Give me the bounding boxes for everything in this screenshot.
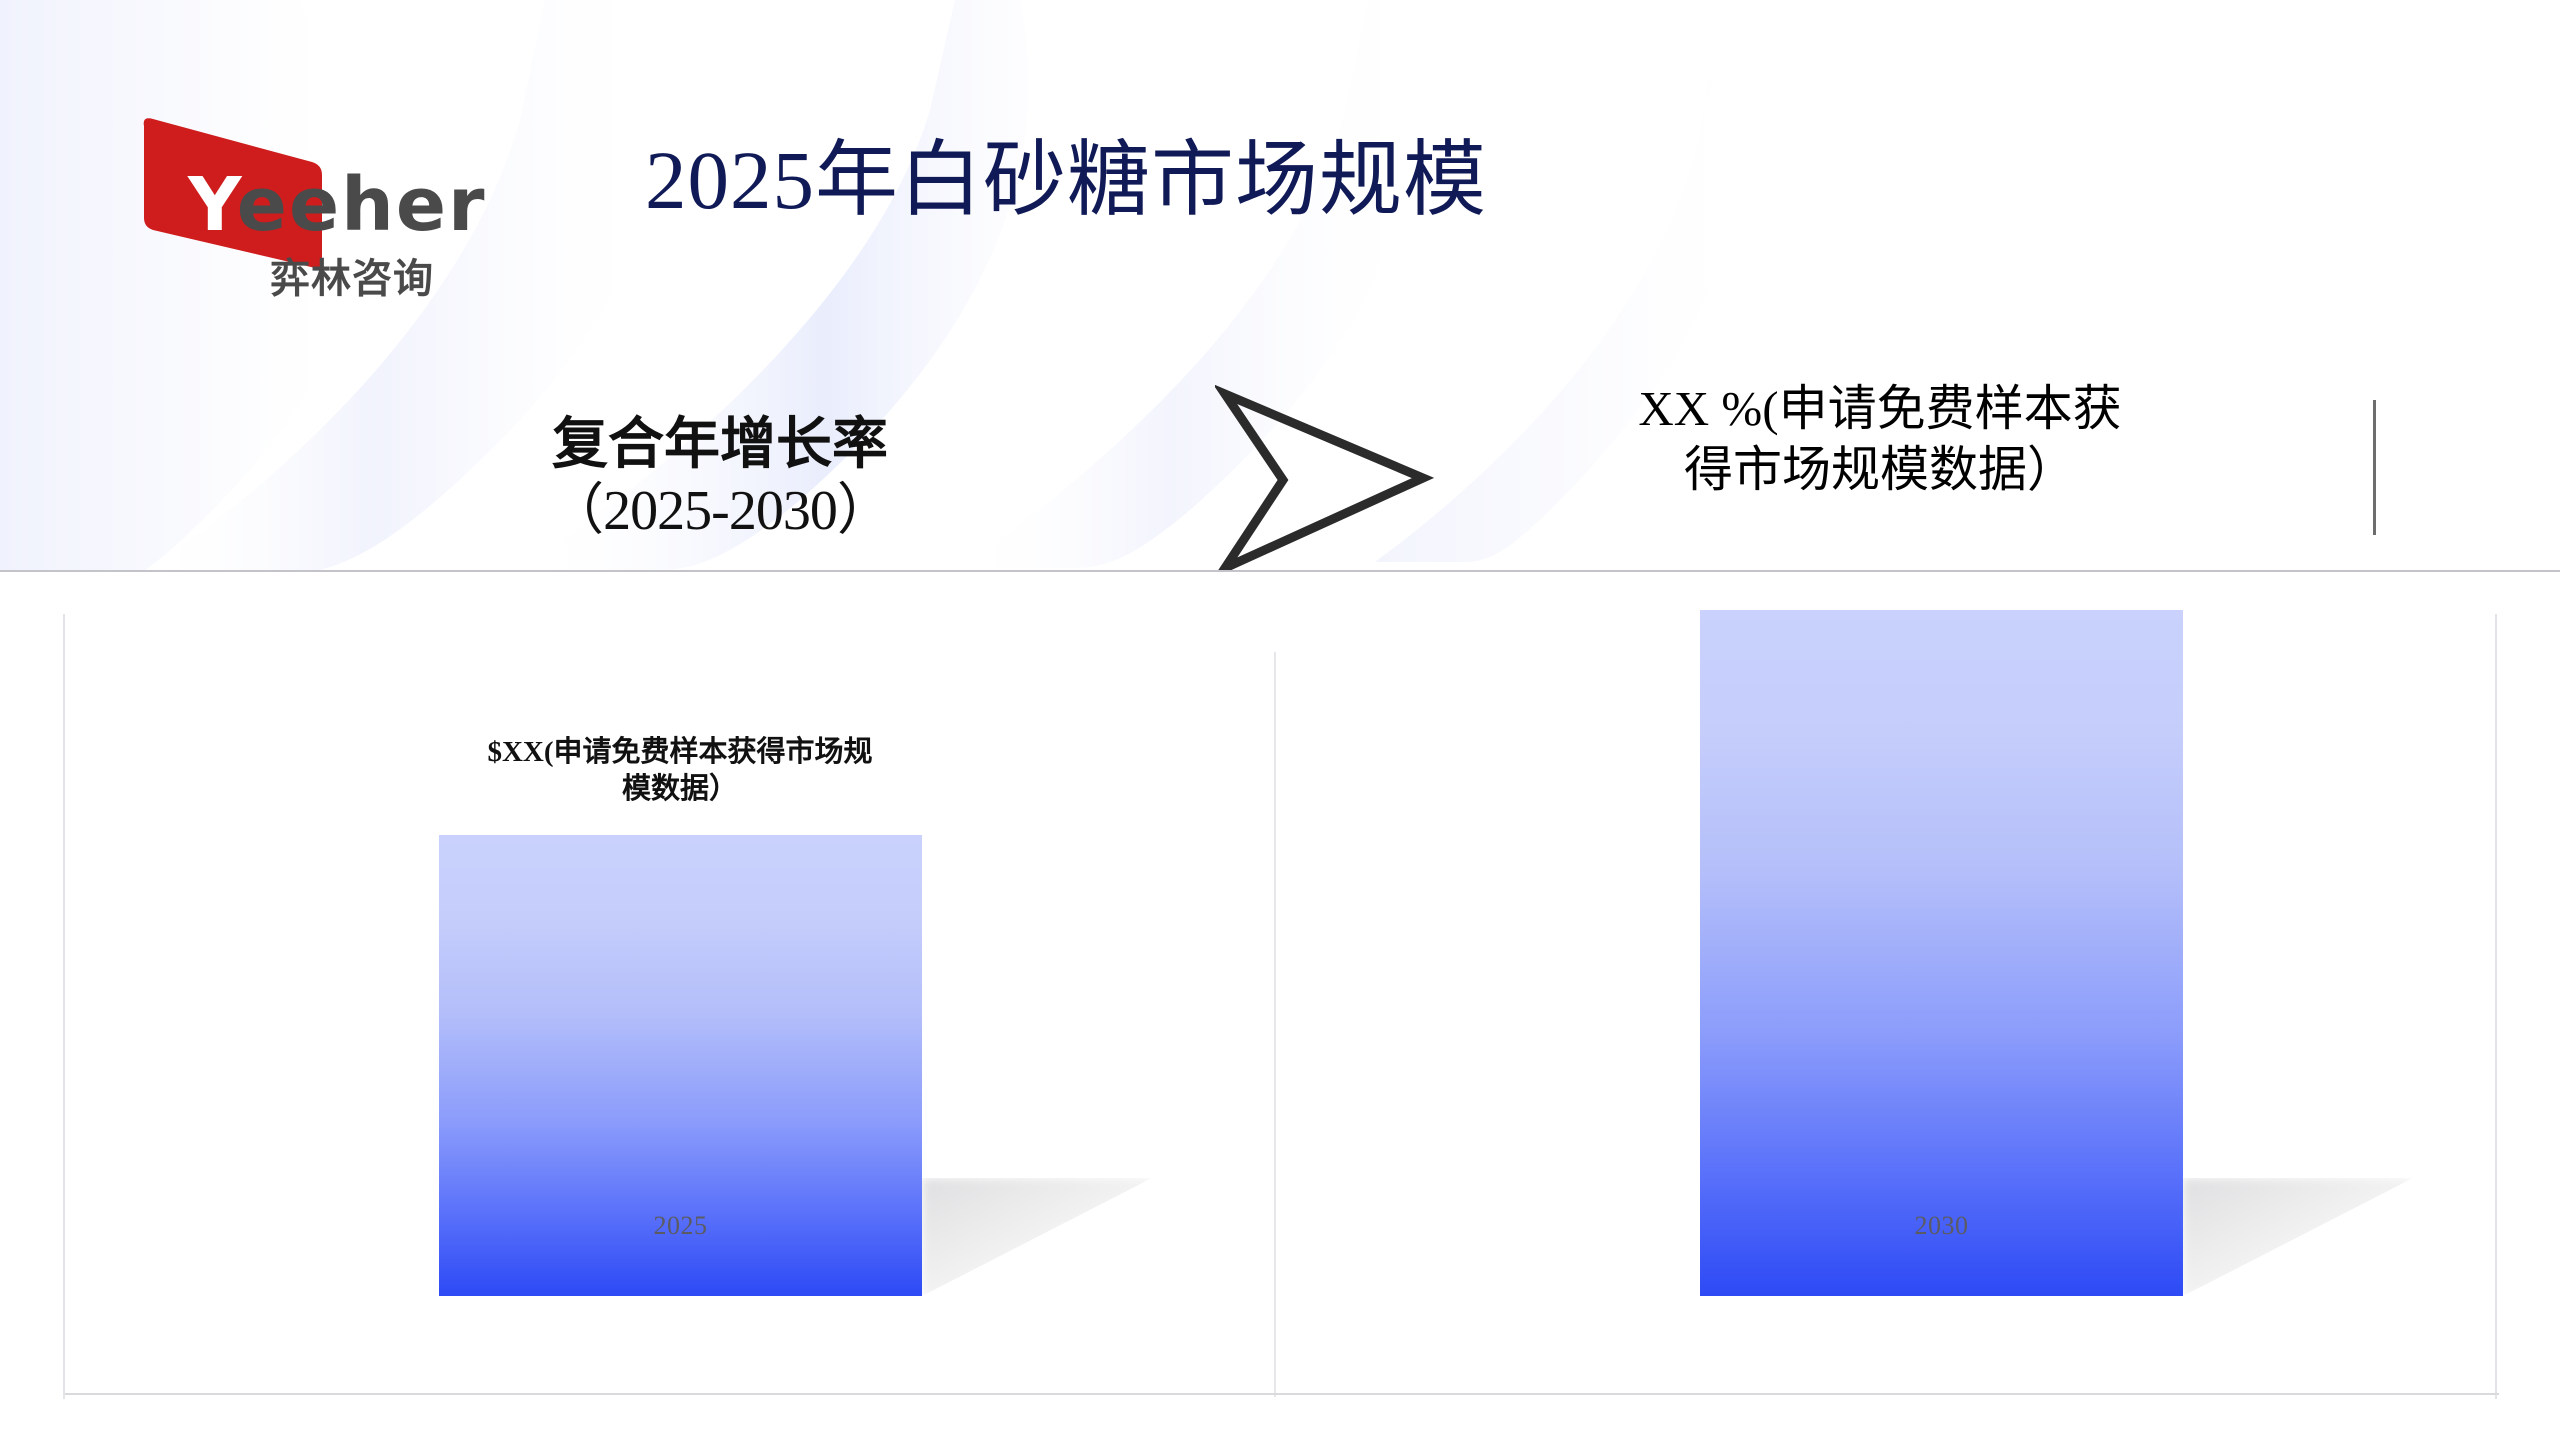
axis-tick-label-2030: 2030 bbox=[1700, 1211, 2183, 1241]
chart-axis-baseline bbox=[65, 1393, 2499, 1395]
vertical-rule bbox=[2373, 400, 2376, 535]
arrow-right-icon bbox=[1215, 380, 1435, 580]
bar-shadow bbox=[2183, 1178, 2413, 1296]
chart-panel-split bbox=[1274, 652, 1276, 1397]
logo-wordmark: Yeeher bbox=[188, 168, 487, 242]
cagr-value-callout: XX %(申请免费样本获得市场规模数据） bbox=[1620, 378, 2140, 501]
bar-value-label-2025: $XX(申请免费样本获得市场规 模数据） bbox=[390, 734, 970, 809]
logo-wordmark-rest: eeher bbox=[237, 162, 487, 248]
chart-region: $XX(申请免费样本获得市场规 模数据） 2025 2030 bbox=[0, 572, 2560, 1440]
axis-tick-label-2025: 2025 bbox=[439, 1211, 922, 1241]
bar-value-label-line2: 模数据） bbox=[390, 771, 970, 809]
cagr-label-line2: （2025-2030） bbox=[480, 478, 960, 544]
cagr-label-line1: 复合年增长率 bbox=[480, 412, 960, 478]
header-region: Yeeher 弈林咨询 2025年白砂糖市场规模 复合年增长率 （2025-20… bbox=[0, 0, 2560, 570]
brand-logo[interactable]: Yeeher 弈林咨询 bbox=[128, 112, 478, 302]
logo-subtitle: 弈林咨询 bbox=[270, 246, 434, 304]
logo-wordmark-lead: Y bbox=[188, 162, 237, 248]
cagr-label: 复合年增长率 （2025-2030） bbox=[480, 412, 960, 544]
bar-shadow bbox=[922, 1178, 1152, 1296]
chart-panel: $XX(申请免费样本获得市场规 模数据） 2025 2030 bbox=[63, 614, 2497, 1399]
page-title: 2025年白砂糖市场规模 bbox=[645, 135, 1487, 226]
bar-value-label-line1: $XX(申请免费样本获得市场规 bbox=[390, 734, 970, 772]
slide-canvas: Yeeher 弈林咨询 2025年白砂糖市场规模 复合年增长率 （2025-20… bbox=[0, 0, 2560, 1440]
bar-2030[interactable] bbox=[1700, 610, 2183, 1296]
